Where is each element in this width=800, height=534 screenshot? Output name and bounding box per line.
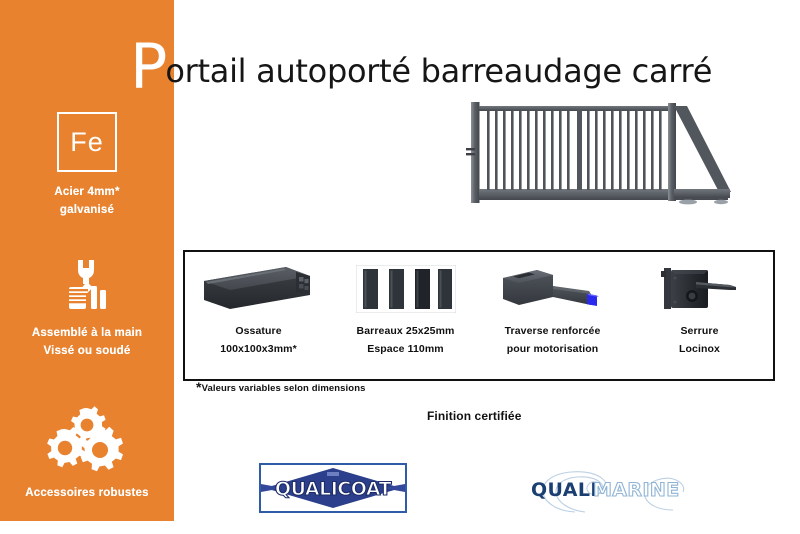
footnote: *Valeurs variables selon dimensions: [196, 383, 365, 394]
product-sheet-page: Fe Acier 4mm* galvanisé: [0, 0, 800, 534]
sidebar-item-steel: Fe Acier 4mm* galvanisé: [0, 112, 174, 220]
sidebar-item-assembly-line1: Assemblé à la main: [0, 325, 174, 343]
certified-finish-label: Finition certifiée: [427, 409, 521, 423]
square-bars-icon: [356, 265, 456, 313]
qualicoat-logo: QUALICOAT: [259, 463, 407, 513]
feature-crossbeam-line1: Traverse renforcée: [505, 322, 601, 340]
fe-element-icon: Fe: [57, 112, 117, 172]
feature-cell-lock: Serrure Locinox: [626, 252, 773, 379]
feature-frame-line1: Ossature: [220, 322, 297, 340]
features-panel: Ossature 100x100x3mm*: [183, 250, 775, 381]
qualimarine-part1: QUALI: [531, 479, 598, 501]
fe-symbol: Fe: [70, 129, 104, 156]
qualimarine-logo: QUALI MARINE: [523, 466, 703, 514]
wrench-hand-icon: [58, 256, 116, 314]
frame-profile-icon: [200, 263, 318, 315]
sidebar-item-accessories: Accessoires robustes: [0, 404, 174, 503]
sidebar-item-steel-line2: galvanisé: [0, 202, 174, 220]
sliding-cantilever-gate-illustration: [463, 93, 773, 228]
feature-bars-line2: Espace 110mm: [357, 340, 455, 358]
feature-cell-crossbeam: Traverse renforcée pour motorisation: [479, 252, 626, 379]
feature-crossbeam-line2: pour motorisation: [505, 340, 601, 358]
feature-frame-line2: 100x100x3mm*: [220, 340, 297, 358]
page-title: P ortail autoporté barreaudage carré: [130, 30, 712, 86]
feature-cell-frame: Ossature 100x100x3mm*: [185, 252, 332, 379]
page-title-rest: ortail autoporté barreaudage carré: [165, 55, 712, 87]
feature-bars-line1: Barreaux 25x25mm: [357, 322, 455, 340]
feature-cell-bars: Barreaux 25x25mm Espace 110mm: [332, 252, 479, 379]
sidebar-item-steel-line1: Acier 4mm*: [0, 184, 174, 202]
qualimarine-part2: MARINE: [593, 479, 680, 501]
qualicoat-wordmark: QUALICOAT: [275, 478, 392, 500]
page-title-capital: P: [130, 36, 167, 98]
sidebar-item-accessories-line1: Accessoires robustes: [0, 485, 174, 503]
feature-lock-line2: Locinox: [679, 340, 720, 358]
feature-lock-line1: Serrure: [679, 322, 720, 340]
sidebar-item-assembly: Assemblé à la main Vissé ou soudé: [0, 256, 174, 361]
reinforced-crossbeam-icon: [499, 264, 607, 314]
gears-icon: [41, 404, 133, 474]
qualimarine-wave-icon: QUALI MARINE: [523, 466, 703, 514]
lock-icon: [652, 263, 748, 315]
sidebar-item-assembly-line2: Vissé ou soudé: [0, 343, 174, 361]
footnote-text: Valeurs variables selon dimensions: [202, 383, 366, 394]
